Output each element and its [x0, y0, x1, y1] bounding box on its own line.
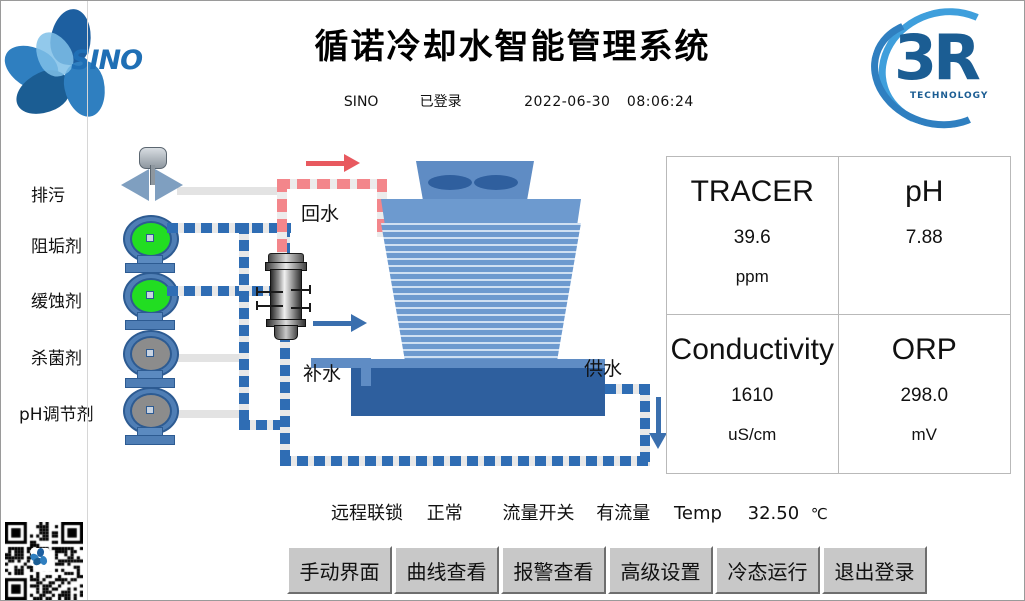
sensor-probe-tip: [256, 301, 258, 310]
readout-name: TRACER: [691, 175, 814, 209]
sensor-probe: [257, 291, 283, 293]
pump-hub: [146, 406, 154, 414]
sensor-probe: [257, 305, 283, 307]
readout-name: ORP: [892, 333, 957, 367]
pump-biocide[interactable]: [119, 330, 179, 386]
temp-unit: ℃: [811, 505, 828, 523]
pump-hub: [146, 349, 154, 357]
valve-body-right: [155, 169, 183, 201]
sensor-probe: [291, 289, 311, 291]
valve-body-left: [121, 169, 149, 201]
remote-interlock-label: 远程联锁: [331, 499, 403, 525]
logo-3r-technology: 3R TECHNOLOGY: [868, 5, 1016, 117]
label-makeup-water: 补水: [303, 359, 341, 386]
pump-hub: [146, 234, 154, 242]
fan-icon: [416, 161, 534, 201]
button-bar: 手动界面 曲线查看 报警查看 高级设置 冷态运行 退出登录: [287, 546, 929, 594]
readout-value: 7.88: [906, 227, 943, 249]
pipe-blowdown: [177, 187, 287, 195]
label-ph-adjuster: pH调节剂: [19, 400, 94, 425]
label-blowdown: 排污: [31, 181, 65, 206]
app-root: SINO 循诺冷却水智能管理系统 SINO 已登录 2022-06-30 08:…: [1, 1, 1024, 600]
pipe-circ-bottom: [280, 456, 650, 466]
readout-conductivity: Conductivity 1610 uS/cm: [667, 315, 839, 473]
pump-ph-adjuster[interactable]: [119, 387, 179, 443]
qr-center-logo: [31, 548, 49, 566]
sensor-probe: [291, 307, 311, 309]
pipe-supply-riser: [640, 384, 650, 462]
pipe-dose-riser: [239, 223, 249, 428]
logo-petal: [39, 555, 48, 566]
pipe-return-riser: [277, 179, 287, 259]
status-user: SINO: [331, 94, 391, 110]
status-date: 2022-06-30: [524, 94, 610, 110]
temp-value: 32.50: [748, 503, 800, 524]
fan-blade: [474, 175, 518, 190]
readout-name: pH: [905, 175, 943, 209]
temp-label: Temp: [674, 503, 722, 524]
arrow-shaft: [656, 397, 661, 435]
sensor-probe-tip: [256, 287, 258, 296]
flow-switch-label: 流量开关: [502, 499, 574, 525]
readout-ph: pH 7.88: [839, 157, 1011, 315]
cooling-tower-icon: [341, 161, 641, 421]
curve-view-button[interactable]: 曲线查看: [394, 546, 499, 594]
label-antiscalant: 阻垢剂: [31, 232, 82, 257]
readout-value: 298.0: [900, 385, 948, 407]
readout-value: 1610: [731, 385, 773, 407]
pump-base: [125, 435, 175, 445]
arrow-shaft: [306, 161, 346, 166]
readout-panel: TRACER 39.6 ppm pH 7.88 Conductivity 161…: [666, 156, 1011, 474]
label-supply-water: 供水: [584, 354, 622, 381]
label-biocide: 杀菌剂: [31, 344, 82, 369]
sensor-foot: [274, 325, 298, 340]
remote-interlock-value: 正常: [427, 499, 463, 525]
cold-start-run-button[interactable]: 冷态运行: [715, 546, 820, 594]
alarm-view-button[interactable]: 报警查看: [501, 546, 606, 594]
pump-hub: [146, 291, 154, 299]
status-time: 08:06:24: [627, 94, 694, 110]
pipe-makeup-v: [361, 358, 371, 386]
bottom-status-bar: 远程联锁 正常 流量开关 有流量 Temp 32.50 ℃: [331, 499, 1021, 525]
tower-basin: [351, 368, 605, 416]
readout-value: 39.6: [734, 227, 771, 249]
label-return-water: 回水: [301, 199, 339, 226]
valve-icon[interactable]: [119, 147, 185, 203]
readout-unit: ppm: [736, 267, 769, 287]
pump-base: [125, 320, 175, 330]
logo-3r-mark: 3R: [894, 27, 977, 89]
sensor-chamber-icon[interactable]: [265, 253, 305, 339]
flow-switch-value: 有流量: [596, 499, 650, 525]
status-login-state: 已登录: [420, 91, 462, 111]
pipe-dose-antiscalant: [167, 223, 291, 233]
tower-fill: [381, 223, 581, 361]
left-divider: [87, 1, 88, 600]
readout-orp: ORP 298.0 mV: [839, 315, 1011, 473]
readout-unit: uS/cm: [728, 425, 776, 445]
fan-blade: [428, 175, 472, 190]
readout-name: Conductivity: [671, 333, 834, 367]
logo-3r-tagline: TECHNOLOGY: [910, 91, 988, 101]
sensor-probe-tip: [309, 285, 311, 294]
pump-corrosion-inhibitor[interactable]: [119, 272, 179, 328]
readout-unit: mV: [912, 425, 938, 445]
arrow-head: [649, 433, 667, 449]
advanced-settings-button[interactable]: 高级设置: [608, 546, 713, 594]
logout-button[interactable]: 退出登录: [822, 546, 927, 594]
readout-tracer: TRACER 39.6 ppm: [667, 157, 839, 315]
label-corrosion-inhibitor: 缓蚀剂: [31, 287, 82, 312]
pipe-circ-down: [280, 331, 290, 461]
sensor-body: [270, 269, 302, 323]
manual-interface-button[interactable]: 手动界面: [287, 546, 392, 594]
sensor-probe-tip: [309, 303, 311, 312]
